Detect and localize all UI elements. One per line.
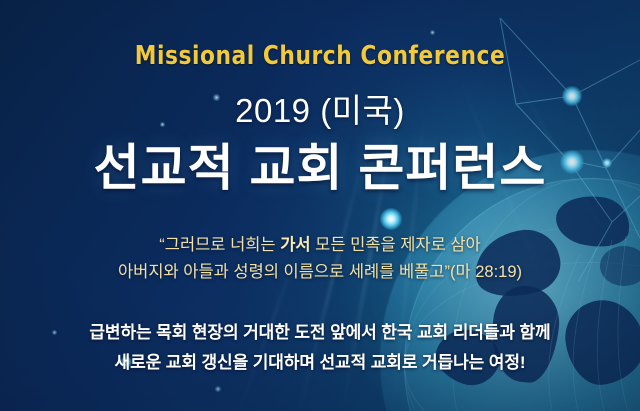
english-title: Missional Church Conference: [22, 40, 617, 72]
scripture-line-1: “그러므로 너희는 가서 모든 민족을 제자로 삼아: [0, 232, 640, 259]
year-subtitle: 2019 (미국): [0, 90, 640, 132]
tagline-line-1: 급변하는 목회 현장의 거대한 도전 앞에서 한국 교회 리더들과 함께: [0, 318, 640, 348]
scripture-quote: “그러므로 너희는 가서 모든 민족을 제자로 삼아 아버지와 아들과 성령의 …: [0, 232, 640, 286]
scripture-line-1-part-a: “그러므로 너희는: [159, 236, 280, 254]
conference-banner: Missional Church Conference 2019 (미국) 선교…: [0, 0, 640, 411]
scripture-line-2: 아버지와 아들과 성령의 이름으로 세례를 베풀고”(마 28:19): [0, 259, 640, 286]
scripture-line-1-part-b: 모든 민족을 제자로 삼아: [311, 236, 481, 254]
main-title: 선교적 교회 콘퍼런스: [0, 138, 640, 198]
tagline-line-2: 새로운 교회 갱신을 기대하며 선교적 교회로 거듭나는 여정!: [0, 348, 640, 378]
banner-content: Missional Church Conference 2019 (미국) 선교…: [0, 0, 640, 411]
scripture-emphasis: 가서: [280, 236, 310, 254]
tagline: 급변하는 목회 현장의 거대한 도전 앞에서 한국 교회 리더들과 함께 새로운…: [0, 318, 640, 378]
